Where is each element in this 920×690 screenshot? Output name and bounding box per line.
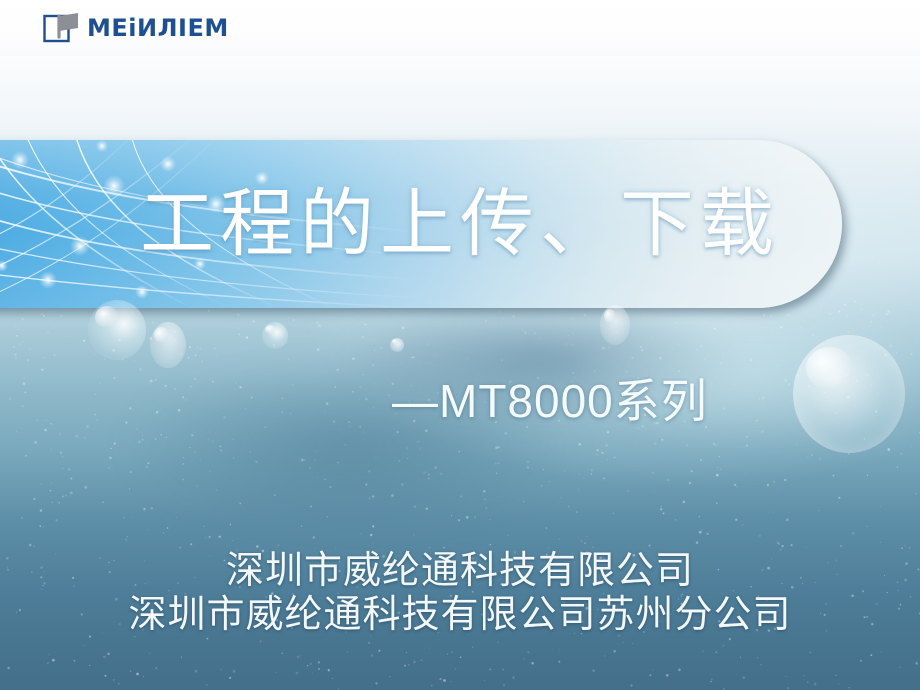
- flag-square-logo-icon: [42, 11, 80, 45]
- bubble-medium-left: [88, 300, 146, 360]
- bubble-tiny-center: [390, 338, 404, 352]
- bubble-large-right: [793, 335, 905, 453]
- company-names: 深圳市威纶通科技有限公司 深圳市威纶通科技有限公司苏州分公司: [0, 548, 920, 636]
- bubble-drop-center: [600, 305, 630, 345]
- bubble-small-center: [262, 322, 288, 349]
- presentation-slide: MEiИЛIEM 工程的上传、下载 —MT8000系列 深圳市威纶通科技有限公司…: [0, 0, 920, 690]
- slide-subtitle: —MT8000系列: [392, 365, 708, 431]
- slide-title: 工程的上传、下载: [140, 186, 780, 264]
- brand-logo-text: MEiИЛIEM: [87, 16, 229, 40]
- company-name-line-2: 深圳市威纶通科技有限公司苏州分公司: [0, 592, 920, 636]
- bubble-drop-left: [150, 322, 186, 368]
- slide-header: MEiИЛIEM: [0, 0, 920, 56]
- company-name-line-1: 深圳市威纶通科技有限公司: [0, 548, 920, 592]
- brand-logo: MEiИЛIEM: [42, 11, 229, 45]
